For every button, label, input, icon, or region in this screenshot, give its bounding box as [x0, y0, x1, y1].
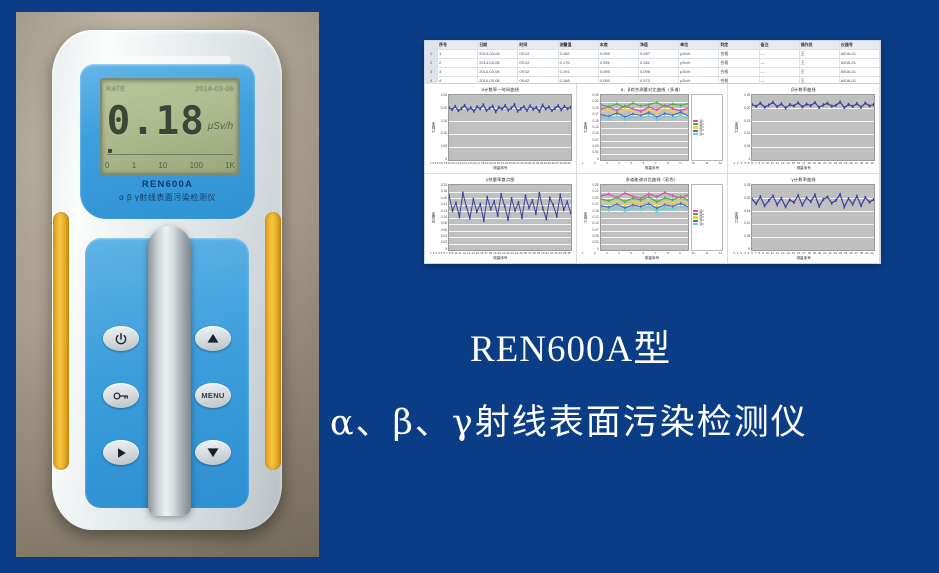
y-tick-label: 0.10 — [739, 132, 750, 135]
x-axis-ticks: 1234567891011121314151617181920212223242… — [429, 162, 572, 165]
x-axis-ticks: 123456789101112 — [581, 162, 724, 165]
x-tick-label: 11 — [459, 252, 462, 255]
x-tick-label: 5 — [748, 252, 750, 255]
chart-plot-area: 计数率0.250.200.150.100.050 — [429, 94, 572, 161]
plot-canvas — [448, 94, 572, 161]
legend-swatch — [693, 220, 698, 223]
y-tick-label: 0.15 — [436, 120, 447, 123]
x-tick-label: 29 — [865, 162, 868, 165]
x-tick-label: 13 — [467, 252, 470, 255]
x-tick-label: 4 — [618, 252, 620, 255]
power-button[interactable] — [103, 326, 139, 351]
x-tick-label: 4 — [438, 252, 440, 255]
table-cell: — — [760, 50, 800, 58]
y-tick-label: 0.15 — [588, 120, 599, 123]
chart-legend: 道1道2道3道4道5 — [691, 184, 723, 251]
table-cell: 0.087 — [639, 50, 679, 58]
x-tick-label: 18 — [489, 252, 492, 255]
table-cell: 合格 — [719, 59, 759, 67]
x-tick-label: 26 — [512, 162, 515, 165]
x-tick-label: 21 — [502, 252, 505, 255]
chart-plot-area: 计数率0.250.200.150.100.050 — [732, 184, 875, 251]
product-photo: RATE 2014-03-06 0.18 μSv/h 0 1 10 100 1K — [16, 12, 319, 557]
y-tick-label: 0.05 — [739, 235, 750, 238]
x-tick-label: 11 — [705, 162, 708, 165]
x-tick-label: 8 — [758, 162, 760, 165]
y-tick-label: 0.14 — [436, 203, 447, 206]
y-tick-label: 0.10 — [436, 216, 447, 219]
gridline — [601, 160, 689, 161]
table-cell: 0.176 — [559, 59, 599, 67]
x-tick-label: 2 — [594, 162, 596, 165]
x-tick-label: 4 — [744, 252, 746, 255]
y-tick-label: 0.25 — [588, 94, 599, 97]
x-tick-label: 30 — [870, 252, 873, 255]
plot-canvas — [600, 184, 690, 251]
y-tick-label: 0.12 — [588, 216, 599, 219]
x-tick-label: 30 — [528, 162, 531, 165]
x-tick-label: 6 — [643, 162, 645, 165]
table-header-cell: 净值 — [639, 41, 679, 49]
title-block: REN600A型 α、β、γ射线表面污染检测仪 — [330, 318, 930, 445]
legend-swatch — [693, 223, 698, 226]
chart-plot-area: 剂量率0.200.180.160.140.120.100.080.060.040… — [429, 184, 572, 251]
chart-plot-area: 计数率0.250.220.200.170.150.120.100.070.050… — [581, 94, 724, 161]
y-tick-label: 0.22 — [588, 190, 599, 193]
chart-title: 多道能谱对比曲线（彩色） — [581, 177, 724, 183]
x-tick-label: 19 — [813, 162, 816, 165]
x-tick-label: 10 — [766, 162, 769, 165]
y-tick-label: 0.10 — [588, 132, 599, 135]
y-tick-label: 0.06 — [436, 229, 447, 232]
x-tick-label: 24 — [515, 252, 518, 255]
chart-cell: γ计数率曲线计数率0.250.200.150.100.0501234567891… — [728, 174, 880, 264]
table-cell: μSv/h — [679, 59, 719, 67]
x-tick-label: 20 — [489, 162, 492, 165]
table-cell: 09:22 — [518, 59, 558, 67]
x-tick-label: 14 — [466, 162, 469, 165]
x-tick-label: 12 — [719, 162, 722, 165]
x-tick-label: 29 — [524, 162, 527, 165]
x-tick-label: 23 — [834, 252, 837, 255]
x-tick-label: 31 — [546, 252, 549, 255]
x-tick-label: 33 — [540, 162, 543, 165]
y-tick-label: 0.20 — [588, 197, 599, 200]
x-tick-label: 12 — [463, 252, 466, 255]
legend-swatch — [693, 216, 698, 219]
x-tick-label: 24 — [505, 162, 508, 165]
series-graphics — [449, 185, 571, 250]
y-tick-label: 0.10 — [588, 222, 599, 225]
table-cell: 0.182 — [559, 50, 599, 58]
y-tick-label: 0.25 — [588, 184, 599, 187]
x-tick-label: 7 — [755, 252, 757, 255]
chart-title: α、β综合测量对比曲线（多道） — [581, 87, 724, 93]
plot-canvas — [448, 184, 572, 251]
x-tick-label: 10 — [454, 252, 457, 255]
lcd-scale-tick: 1 — [132, 161, 136, 170]
y-tick-label: 0.20 — [739, 107, 750, 110]
x-tick-label: 36 — [551, 162, 554, 165]
x-tick-label: 22 — [828, 162, 831, 165]
y-tick-label: 0.05 — [588, 235, 599, 238]
chart-grid: α计数率—时间曲线计数率0.250.200.150.100.0501234567… — [425, 84, 880, 264]
device-model-label: REN600A — [80, 179, 255, 190]
x-tick-label: 33 — [554, 252, 557, 255]
y-tick-label: 0.07 — [588, 139, 599, 142]
x-tick-label: 20 — [498, 252, 501, 255]
x-tick-label: 17 — [484, 252, 487, 255]
y-axis-ticks: 0.250.200.150.100.050 — [739, 184, 751, 251]
chart-title: γ剂量率散点图 — [429, 177, 572, 183]
x-axis-label: 测量序号 — [429, 256, 572, 261]
x-axis-label: 测量序号 — [581, 166, 724, 171]
table-cell: 合格 — [719, 68, 759, 76]
x-tick-label: 12 — [458, 162, 461, 165]
chart-plot-area: 计数率0.250.220.200.170.150.120.100.070.050… — [581, 184, 724, 251]
x-tick-label: 37 — [555, 162, 558, 165]
y-tick-label: 0.10 — [436, 132, 447, 135]
table-row: 222014-03-0609:220.1760.0950.081μSv/h合格—… — [425, 59, 880, 68]
lcd-screen: RATE 2014-03-06 0.18 μSv/h 0 1 10 100 1K — [100, 78, 240, 175]
x-tick-label: 22 — [497, 162, 500, 165]
x-tick-label: 17 — [802, 162, 805, 165]
x-axis-label: 测量序号 — [732, 256, 875, 261]
table-cell: 王 — [800, 59, 840, 67]
chart-title: α计数率—时间曲线 — [429, 87, 572, 93]
power-icon — [114, 332, 128, 346]
x-tick-label: 8 — [758, 252, 760, 255]
x-tick-label: 14 — [786, 252, 789, 255]
y-tick-label: 0.25 — [739, 184, 750, 187]
x-tick-label: 29 — [865, 252, 868, 255]
table-cell: 600A-01 — [840, 59, 880, 67]
table-row: 332014-03-0609:320.1910.0950.096μSv/h合格—… — [425, 68, 880, 77]
y-axis-ticks: 0.250.200.150.100.050 — [739, 94, 751, 161]
x-tick-label: 38 — [559, 162, 562, 165]
y-axis-label: 计数率 — [429, 94, 436, 161]
triangle-right-icon — [115, 447, 128, 459]
table-cell: 0.081 — [639, 59, 679, 67]
y-tick-label: 0.16 — [436, 197, 447, 200]
x-tick-label: 6 — [751, 252, 753, 255]
table-header-cell: 单位 — [679, 41, 719, 49]
table-cell: 1 — [438, 50, 478, 58]
x-tick-label: 3 — [740, 162, 742, 165]
table-row: 序号日期时间测量值本底净值单位判定备注操作员仪器号 — [425, 41, 880, 50]
x-tick-label: 27 — [528, 252, 531, 255]
x-tick-label: 30 — [541, 252, 544, 255]
x-tick-label: 14 — [471, 252, 474, 255]
menu-button[interactable]: MENU — [195, 383, 231, 408]
legend-swatch — [693, 213, 698, 216]
x-tick-label: 22 — [828, 252, 831, 255]
x-tick-label: 19 — [485, 162, 488, 165]
x-tick-label: 10 — [691, 162, 694, 165]
x-tick-label: 7 — [446, 252, 448, 255]
series-graphics — [601, 95, 689, 160]
y-axis-ticks: 0.250.220.200.170.150.120.100.070.050.02… — [588, 184, 600, 251]
legend-swatch — [693, 133, 698, 136]
x-axis-label: 测量序号 — [732, 166, 875, 171]
x-tick-label: 23 — [511, 252, 514, 255]
lcd-status-bar: RATE 2014-03-06 — [106, 83, 234, 95]
x-tick-label: 22 — [506, 252, 509, 255]
lcd-scale: 0 1 10 100 1K — [105, 159, 235, 171]
x-tick-label: 1 — [733, 252, 735, 255]
x-tick-label: 15 — [792, 252, 795, 255]
x-tick-label: 9 — [679, 162, 681, 165]
x-tick-label: 11 — [771, 162, 774, 165]
y-tick-label: 0.02 — [588, 151, 599, 154]
x-tick-label: 21 — [493, 162, 496, 165]
table-cell: 合格 — [719, 50, 759, 58]
x-tick-label: 35 — [563, 252, 566, 255]
x-tick-label: 34 — [559, 252, 562, 255]
x-tick-label: 9 — [452, 252, 454, 255]
slide-canvas: RATE 2014-03-06 0.18 μSv/h 0 1 10 100 1K — [0, 0, 939, 573]
y-tick-label: 0.12 — [588, 126, 599, 129]
x-tick-label: 36 — [567, 252, 570, 255]
y-axis-label: 计数率 — [732, 184, 739, 251]
y-tick-label: 0.15 — [588, 210, 599, 213]
radiation-detector-device: RATE 2014-03-06 0.18 μSv/h 0 1 10 100 1K — [52, 30, 282, 530]
table-cell: 3 — [438, 68, 478, 76]
x-tick-label: 2 — [737, 252, 739, 255]
plot-canvas — [751, 184, 875, 251]
x-tick-label: 18 — [807, 162, 810, 165]
x-axis-ticks: 1234567891011121314151617181920212223242… — [429, 252, 572, 255]
x-tick-label: 24 — [839, 252, 842, 255]
x-tick-label: 5 — [630, 162, 632, 165]
grip-right — [265, 212, 281, 470]
lcd-value: 0.18 — [107, 102, 205, 141]
data-spreadsheet: 序号日期时间测量值本底净值单位判定备注操作员仪器号112014-03-0609:… — [425, 41, 880, 84]
x-tick-label: 5 — [630, 252, 632, 255]
lcd-scale-tick: 100 — [190, 161, 203, 170]
x-tick-label: 1 — [582, 252, 584, 255]
y-axis-ticks: 0.250.220.200.170.150.120.100.070.050.02… — [588, 94, 600, 161]
x-tick-label: 16 — [797, 162, 800, 165]
table-cell: 2014-03-06 — [478, 50, 518, 58]
y-axis-label: 计数率 — [732, 94, 739, 161]
x-tick-label: 32 — [550, 252, 553, 255]
table-cell: 0.095 — [599, 68, 639, 76]
x-tick-label: 25 — [519, 252, 522, 255]
table-cell: μSv/h — [679, 68, 719, 76]
y-tick-label: 0.04 — [436, 235, 447, 238]
x-tick-label: 10 — [766, 252, 769, 255]
x-tick-label: 1 — [430, 252, 432, 255]
y-axis-label: 剂量率 — [429, 184, 436, 251]
table-cell: 09:32 — [518, 68, 558, 76]
x-tick-label: 3 — [606, 252, 608, 255]
x-tick-label: 28 — [860, 252, 863, 255]
x-tick-label: 11 — [705, 252, 708, 255]
series-graphics — [752, 185, 874, 250]
table-cell: 600A-01 — [840, 50, 880, 58]
y-tick-label: 0.20 — [588, 107, 599, 110]
legend-label: 道5 — [699, 133, 703, 136]
table-cell: 2 — [438, 59, 478, 67]
x-tick-label: 16 — [473, 162, 476, 165]
x-tick-label: 30 — [870, 162, 873, 165]
play-button[interactable] — [103, 440, 139, 465]
x-tick-label: 2 — [433, 252, 435, 255]
x-tick-label: 28 — [860, 162, 863, 165]
series-graphics — [752, 95, 874, 160]
x-tick-label: 8 — [449, 252, 451, 255]
table-cell: 王 — [800, 68, 840, 76]
x-tick-label: 17 — [477, 162, 480, 165]
y-tick-label: 0.20 — [739, 197, 750, 200]
x-tick-label: 31 — [532, 162, 535, 165]
x-tick-label: 23 — [834, 162, 837, 165]
x-tick-label: 9 — [762, 252, 764, 255]
x-tick-label: 28 — [520, 162, 523, 165]
legend-swatch — [693, 210, 698, 213]
x-tick-label: 18 — [807, 252, 810, 255]
y-tick-label: 0.02 — [588, 241, 599, 244]
key-button[interactable] — [103, 383, 139, 408]
legend-item: 道5 — [693, 133, 721, 136]
up-button[interactable] — [195, 326, 231, 351]
lcd-scale-tick: 0 — [105, 161, 109, 170]
table-header-cell: 测量值 — [559, 41, 599, 49]
y-tick-label: 0.17 — [588, 113, 599, 116]
x-tick-label: 8 — [667, 162, 669, 165]
triangle-up-icon — [206, 333, 220, 344]
x-tick-label: 11 — [454, 162, 457, 165]
chart-cell: α、β综合测量对比曲线（多道）计数率0.250.220.200.170.150.… — [577, 84, 729, 174]
x-tick-label: 21 — [823, 162, 826, 165]
gridline — [752, 160, 874, 161]
row-index: 2 — [425, 59, 438, 67]
x-tick-label: 17 — [802, 252, 805, 255]
x-tick-label: 19 — [813, 252, 816, 255]
table-header-cell: 序号 — [438, 41, 478, 49]
table-cell: 0.096 — [639, 68, 679, 76]
y-tick-label: 0.20 — [436, 184, 447, 187]
table-row: 112014-03-0609:120.1820.0950.087μSv/h合格—… — [425, 50, 880, 59]
x-tick-label: 13 — [781, 162, 784, 165]
x-tick-label: 14 — [786, 162, 789, 165]
software-report-panel: 序号日期时间测量值本底净值单位判定备注操作员仪器号112014-03-0609:… — [424, 40, 881, 264]
triangle-down-icon — [206, 447, 220, 458]
x-tick-label: 5 — [748, 162, 750, 165]
y-axis-label: 计数率 — [581, 94, 588, 161]
x-tick-label: 4 — [744, 162, 746, 165]
table-header-cell: 判定 — [719, 41, 759, 49]
menu-button-label: MENU — [201, 391, 224, 400]
x-axis-label: 测量序号 — [429, 166, 572, 171]
table-header-cell: 日期 — [478, 41, 518, 49]
device-upper-faceplate: RATE 2014-03-06 0.18 μSv/h 0 1 10 100 1K — [80, 64, 255, 219]
chart-cell: β计数率曲线计数率0.250.200.150.100.0501234567891… — [728, 84, 880, 174]
x-tick-label: 12 — [776, 252, 779, 255]
y-tick-label: 0.17 — [588, 203, 599, 206]
x-tick-label: 18 — [481, 162, 484, 165]
x-tick-label: 15 — [469, 162, 472, 165]
legend-swatch — [693, 126, 698, 129]
table-header-cell: 操作员 — [800, 41, 840, 49]
legend-item: 道5 — [693, 223, 721, 226]
row-index: 3 — [425, 68, 438, 76]
legend-swatch — [693, 130, 698, 133]
lcd-unit: μSv/h — [208, 121, 234, 132]
y-tick-label: 0.22 — [588, 100, 599, 103]
table-cell: 0.095 — [599, 59, 639, 67]
table-header-cell: 本底 — [599, 41, 639, 49]
x-axis-ticks: 123456789101112 — [581, 252, 724, 255]
x-axis-ticks: 1234567891011121314151617181920212223242… — [732, 252, 875, 255]
table-cell: 2014-03-06 — [478, 68, 518, 76]
chart-cell: γ剂量率散点图剂量率0.200.180.160.140.120.100.080.… — [425, 174, 577, 264]
chart-title: γ计数率曲线 — [732, 177, 875, 183]
y-axis-ticks: 0.200.180.160.140.120.100.080.060.040.02… — [436, 184, 448, 251]
table-cell: 王 — [800, 50, 840, 58]
x-tick-label: 27 — [855, 162, 858, 165]
y-tick-label: 0.15 — [739, 120, 750, 123]
x-tick-label: 12 — [719, 252, 722, 255]
chart-cell: α计数率—时间曲线计数率0.250.200.150.100.0501234567… — [425, 84, 577, 174]
table-header-cell: 备注 — [760, 41, 800, 49]
x-tick-label: 3 — [740, 252, 742, 255]
x-tick-label: 8 — [667, 252, 669, 255]
device-handle — [148, 226, 191, 516]
product-subtitle: α、β、γ射线表面污染检测仪 — [330, 394, 930, 445]
x-tick-label: 23 — [501, 162, 504, 165]
down-button[interactable] — [195, 440, 231, 465]
x-tick-label: 39 — [563, 162, 566, 165]
row-index: 1 — [425, 50, 438, 58]
gridline — [752, 250, 874, 251]
y-tick-label: 0.10 — [739, 222, 750, 225]
x-tick-label: 13 — [462, 162, 465, 165]
x-tick-label: 25 — [844, 162, 847, 165]
x-tick-label: 7 — [755, 162, 757, 165]
grip-left — [53, 212, 69, 470]
chart-legend: 道1道2道3道4道5 — [691, 94, 723, 161]
x-tick-label: 28 — [532, 252, 535, 255]
x-tick-label: 21 — [823, 252, 826, 255]
lcd-reading: 0.18 μSv/h — [102, 97, 238, 145]
x-tick-label: 6 — [443, 252, 445, 255]
chart-cell: 多道能谱对比曲线（彩色）计数率0.250.220.200.170.150.120… — [577, 174, 729, 264]
table-cell: — — [760, 59, 800, 67]
lcd-scale-tick: 1K — [225, 161, 235, 170]
x-tick-label: 26 — [849, 252, 852, 255]
x-axis-ticks: 1234567891011121314151617181920212223242… — [732, 162, 875, 165]
table-header-cell: 时间 — [518, 41, 558, 49]
x-tick-label: 10 — [450, 162, 453, 165]
y-tick-label: 0.08 — [436, 222, 447, 225]
x-tick-label: 40 — [567, 162, 570, 165]
legend-swatch — [693, 120, 698, 123]
x-tick-label: 19 — [493, 252, 496, 255]
x-tick-label: 16 — [797, 252, 800, 255]
y-tick-label: 0.02 — [436, 241, 447, 244]
y-tick-label: 0.18 — [436, 190, 447, 193]
x-tick-label: 15 — [792, 162, 795, 165]
table-cell: 600A-01 — [840, 68, 880, 76]
chart-title: β计数率曲线 — [732, 87, 875, 93]
series-graphics — [449, 95, 571, 160]
x-tick-label: 32 — [536, 162, 539, 165]
x-tick-label: 13 — [781, 252, 784, 255]
x-tick-label: 26 — [849, 162, 852, 165]
x-tick-label: 2 — [737, 162, 739, 165]
